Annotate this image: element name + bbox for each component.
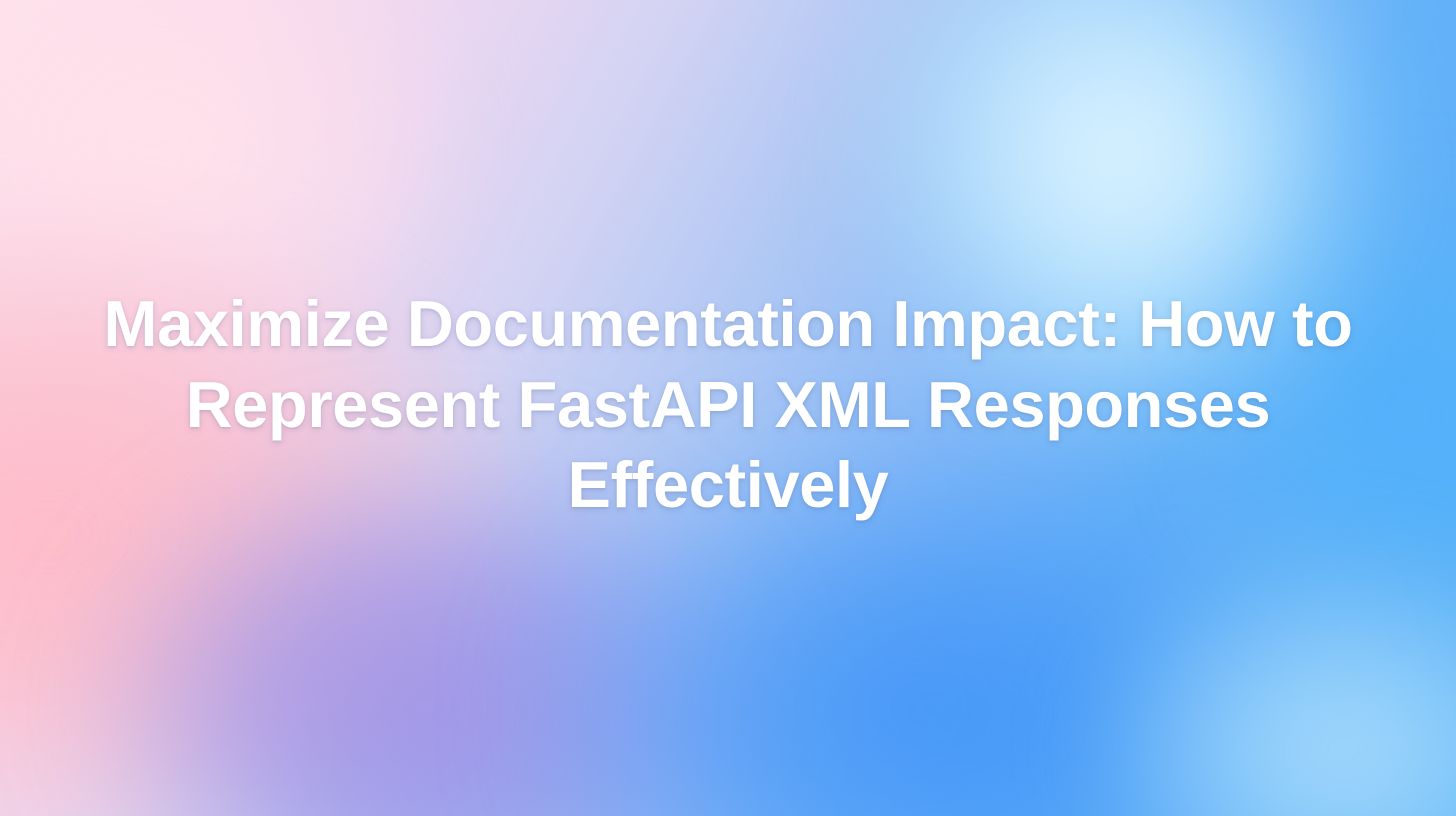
background-blob-bottom-right-light: [1048, 522, 1456, 816]
page-title: Maximize Documentation Impact: How to Re…: [18, 284, 1438, 527]
hero-content: Maximize Documentation Impact: How to Re…: [0, 287, 1456, 530]
hero-banner: Maximize Documentation Impact: How to Re…: [0, 0, 1456, 816]
